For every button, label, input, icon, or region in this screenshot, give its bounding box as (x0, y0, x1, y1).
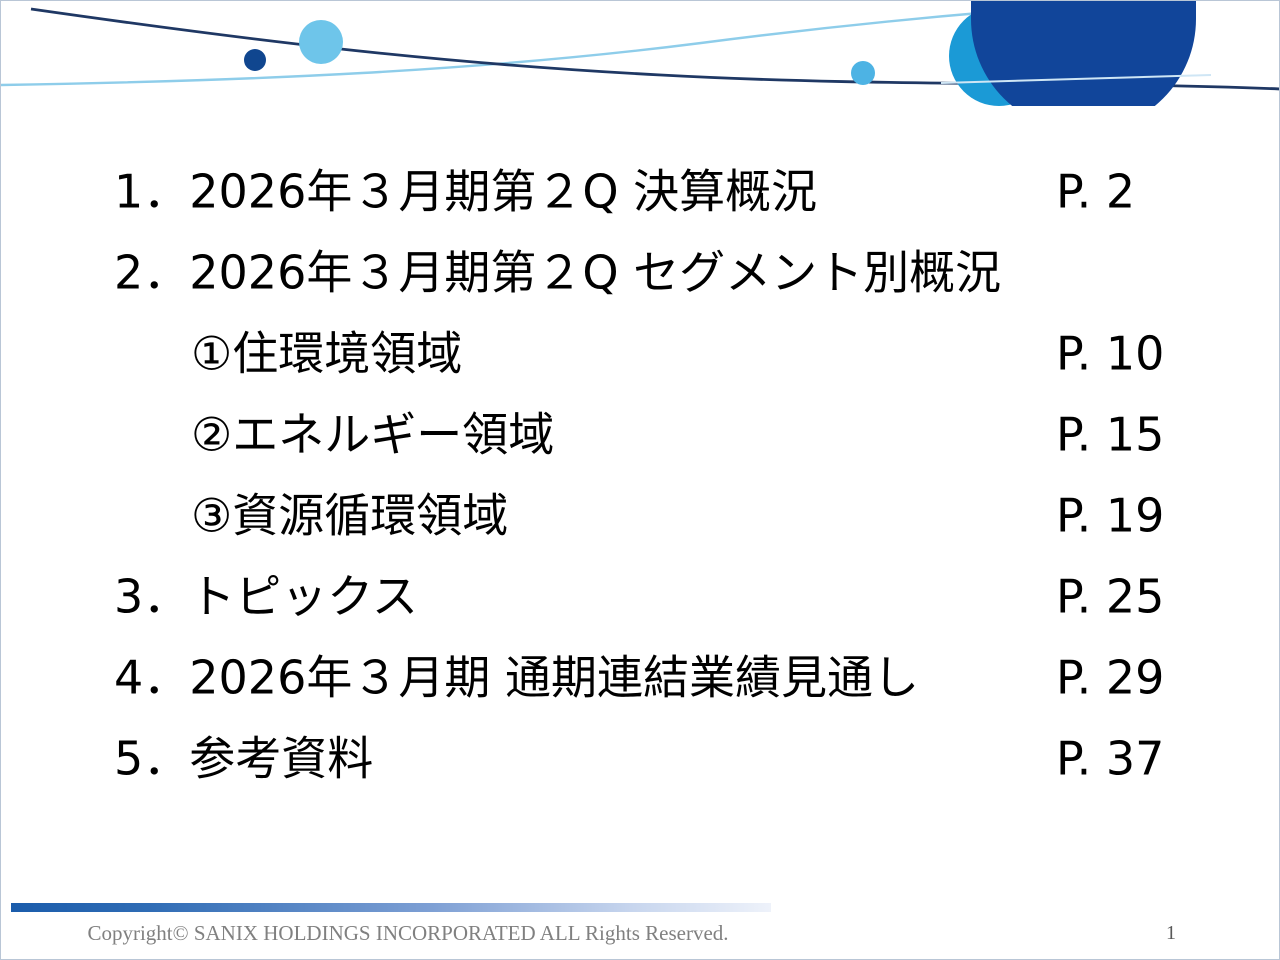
footer-gradient-bar (11, 903, 771, 912)
slide-number: 1 (1141, 922, 1201, 945)
toc-item-4[interactable]: 4．2026年３月期 通期連結業績見通し P. 29 (1, 637, 1280, 718)
toc-item-label: ①住環境領域 (191, 328, 462, 379)
slide-canvas: 次世代へ快適な環境を SANIX 1．2026年３月期第２Q 決算概況 P. 2… (0, 0, 1280, 960)
sanix-logo: 次世代へ快適な環境を SANIX (941, 1, 1211, 106)
table-of-contents: 1．2026年３月期第２Q 決算概況 P. 2 2．2026年３月期第２Q セグ… (1, 151, 1280, 799)
toc-item-2-3[interactable]: ③資源循環領域 P. 19 (1, 475, 1280, 556)
toc-item-2[interactable]: 2．2026年３月期第２Q セグメント別概況 (1, 232, 1280, 313)
toc-item-1[interactable]: 1．2026年３月期第２Q 決算概況 P. 2 (1, 151, 1280, 232)
toc-item-3[interactable]: 3．トピックス P. 25 (1, 556, 1280, 637)
footer-copyright: Copyright© SANIX HOLDINGS INCORPORATED A… (1, 921, 1280, 946)
toc-item-label: 5．参考資料 (114, 733, 373, 784)
header-dot-lightblue-small (851, 61, 875, 85)
toc-item-page: P. 10 (1056, 328, 1164, 379)
toc-item-label: 2．2026年３月期第２Q セグメント別概況 (114, 247, 1001, 298)
header-dot-lightblue-large (299, 20, 343, 64)
toc-item-2-1[interactable]: ①住環境領域 P. 10 (1, 313, 1280, 394)
toc-item-page: P. 2 (1056, 166, 1135, 217)
toc-item-label: 1．2026年３月期第２Q 決算概況 (114, 166, 817, 217)
toc-item-2-2[interactable]: ②エネルギー領域 P. 15 (1, 394, 1280, 475)
footer-copyright-text: Copyright© SANIX HOLDINGS INCORPORATED A… (87, 921, 728, 946)
toc-item-page: P. 15 (1056, 409, 1164, 460)
toc-item-page: P. 25 (1056, 571, 1164, 622)
toc-item-page: P. 29 (1056, 652, 1164, 703)
toc-item-label: ③資源循環領域 (191, 490, 508, 541)
toc-item-5[interactable]: 5．参考資料 P. 37 (1, 718, 1280, 799)
toc-item-page: P. 37 (1056, 733, 1164, 784)
toc-item-label: ②エネルギー領域 (191, 409, 554, 460)
header-dot-navy (244, 49, 266, 71)
toc-item-label: 3．トピックス (114, 571, 418, 622)
toc-item-page: P. 19 (1056, 490, 1164, 541)
toc-item-label: 4．2026年３月期 通期連結業績見通し (114, 652, 919, 703)
logo-dome (971, 1, 1196, 106)
